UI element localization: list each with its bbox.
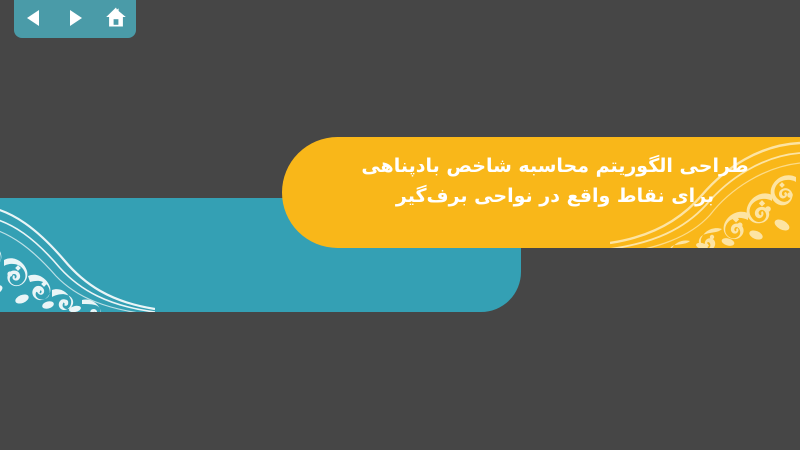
yellow-title-panel: طراحی الگوریتم محاسبه شاخص بادپناهی برای… [282, 137, 800, 248]
home-button[interactable] [103, 5, 129, 31]
title-line-2: برای نقاط واقع در نواحی برف‌گیر [340, 181, 770, 211]
navigation-bar [14, 0, 136, 38]
previous-button[interactable] [21, 5, 47, 31]
title-line-1: طراحی الگوریتم محاسبه شاخص بادپناهی [340, 151, 770, 181]
triangle-right-icon [64, 7, 86, 29]
home-icon [104, 6, 128, 30]
next-button[interactable] [62, 5, 88, 31]
arabesque-ornament-icon [0, 198, 155, 312]
triangle-left-icon [23, 7, 45, 29]
slide-title: طراحی الگوریتم محاسبه شاخص بادپناهی برای… [340, 151, 770, 211]
presentation-slide: طراحی الگوریتم محاسبه شاخص بادپناهی برای… [0, 0, 800, 450]
